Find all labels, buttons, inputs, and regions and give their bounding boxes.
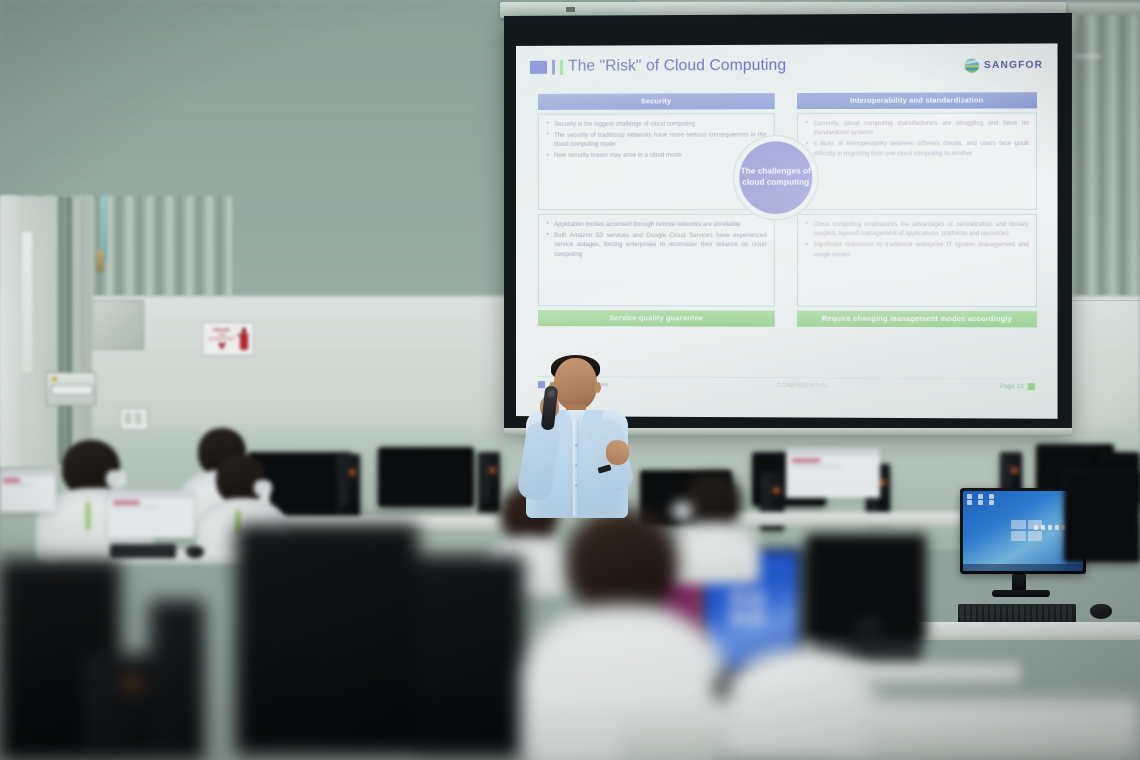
blind-glint: [1075, 54, 1101, 59]
brand-name: SANGFOR: [984, 59, 1043, 70]
electrical-conduit: [78, 196, 83, 372]
brand-logo: SANGFOR: [964, 57, 1043, 73]
taskbar: [963, 564, 1083, 571]
wall-post: [58, 196, 72, 464]
bullet-item: Both Amazon S3 services and Google Cloud…: [546, 231, 767, 260]
quadrant-grid: Security Security is the biggest challen…: [538, 92, 1037, 345]
shirt-button: [575, 444, 578, 447]
light-strip: [22, 232, 32, 372]
bullet-item: Cloud computing emphasizes the advantage…: [805, 220, 1029, 239]
footer-square-green-icon: [1028, 383, 1035, 390]
presenter-hand-right: [606, 440, 629, 465]
center-badge-text: The challenges of cloud computing: [739, 167, 812, 189]
shirt-button: [575, 484, 578, 487]
presenter-person: [516, 358, 642, 518]
windows-logo-icon: [729, 589, 765, 626]
monitor-white-window: [108, 490, 194, 538]
title-square-icon: [530, 60, 547, 73]
desk-surface: [620, 700, 1140, 760]
breaker-led: [52, 377, 57, 381]
footer-page-number: Page 13: [1000, 383, 1024, 390]
slide-title-group: The "Risk" of Cloud Computing: [530, 57, 786, 76]
bullet-item: Security is the biggest challenge of clo…: [546, 119, 767, 129]
down-arrow-icon: [218, 343, 226, 350]
bullet-item: Significant resistance to traditional en…: [805, 240, 1029, 259]
footer-page-group: Page 13: [1000, 383, 1035, 390]
desktop-tower: [150, 600, 204, 760]
desktop-icons: [967, 494, 998, 504]
breaker-panel: [46, 372, 96, 406]
monitor-white-window: [0, 470, 56, 512]
bullet-item: New security issues may arise in a cloud…: [546, 151, 767, 161]
quadrant-body-service-quality: Application modes accessed through remot…: [538, 214, 775, 307]
quadrant-header-interoperability: Interoperability and standardization: [797, 92, 1037, 109]
keyboard: [110, 544, 176, 558]
title-bar-icon: [552, 59, 555, 74]
monitor-base: [992, 590, 1050, 597]
sangfor-globe-logo-icon: [964, 57, 979, 72]
fire-extinguisher-icon: [237, 328, 250, 350]
fire-sign-english-label: FIRE EXTINGUISHER: [209, 333, 234, 341]
mouse: [856, 620, 882, 636]
quadrant-column-right: Interoperability and standardization Cur…: [797, 92, 1037, 345]
electrical-box: [92, 300, 144, 350]
bullet-item: The security of traditional networks hav…: [546, 130, 767, 149]
monitor: [236, 524, 418, 754]
title-bar-green-icon: [560, 59, 563, 74]
bullet-item: Application modes accessed through remot…: [546, 220, 767, 230]
fire-extinguisher-sign: ถังดับเพลิง FIRE EXTINGUISHER: [202, 322, 254, 356]
presenter-shirt-placket: [573, 420, 579, 516]
desktop-tower: [336, 454, 360, 516]
slide-header: The "Risk" of Cloud Computing SANGFOR: [530, 56, 1043, 76]
keyboard: [958, 604, 1076, 624]
desktop-tray-icons: [1034, 525, 1066, 530]
center-challenge-badge: The challenges of cloud computing: [739, 141, 812, 214]
shirt-button: [575, 464, 578, 467]
windows-logo-icon: [1011, 520, 1042, 541]
door-hinge: [96, 250, 104, 272]
breaker-switches: [51, 385, 93, 395]
wall-outlet: [120, 408, 148, 430]
monitor: [1064, 470, 1140, 562]
mouse: [186, 546, 204, 558]
page-title: The "Risk" of Cloud Computing: [568, 57, 786, 76]
footer-classification: CONFIDENTIAL: [777, 382, 830, 389]
student-foreground: [726, 648, 876, 760]
desk-surface: [912, 622, 1140, 640]
bullet-item: Currently, cloud computing manufacturers…: [805, 118, 1029, 138]
quadrant-body-interoperability: Currently, cloud computing manufacturers…: [797, 112, 1037, 209]
door-edge: [0, 196, 20, 466]
presenter-ear: [594, 382, 601, 393]
monitor-white-window: [786, 448, 880, 498]
quadrant-body-security: Security is the biggest challenge of clo…: [538, 113, 775, 210]
monitor: [414, 556, 524, 756]
mouse: [1090, 604, 1112, 619]
quadrant-header-management-modes: Require changing management modes accord…: [797, 310, 1037, 327]
bullet-item: It lacks of interoperability between dif…: [805, 139, 1029, 159]
quadrant-body-management-modes: Cloud computing emphasizes the advantage…: [797, 214, 1037, 307]
screen-bracket: [566, 7, 575, 12]
lecture-hall-photo: ถังดับเพลิง FIRE EXTINGUISHER The "Risk"…: [0, 0, 1140, 760]
quadrant-header-security: Security: [538, 93, 775, 110]
quadrant-column-left: Security Security is the biggest challen…: [538, 93, 775, 345]
quadrant-header-service-quality: Service quality guarantee: [538, 310, 775, 326]
monitor: [378, 447, 474, 507]
presenter-head: [554, 358, 597, 410]
desktop-tower: [86, 654, 150, 760]
